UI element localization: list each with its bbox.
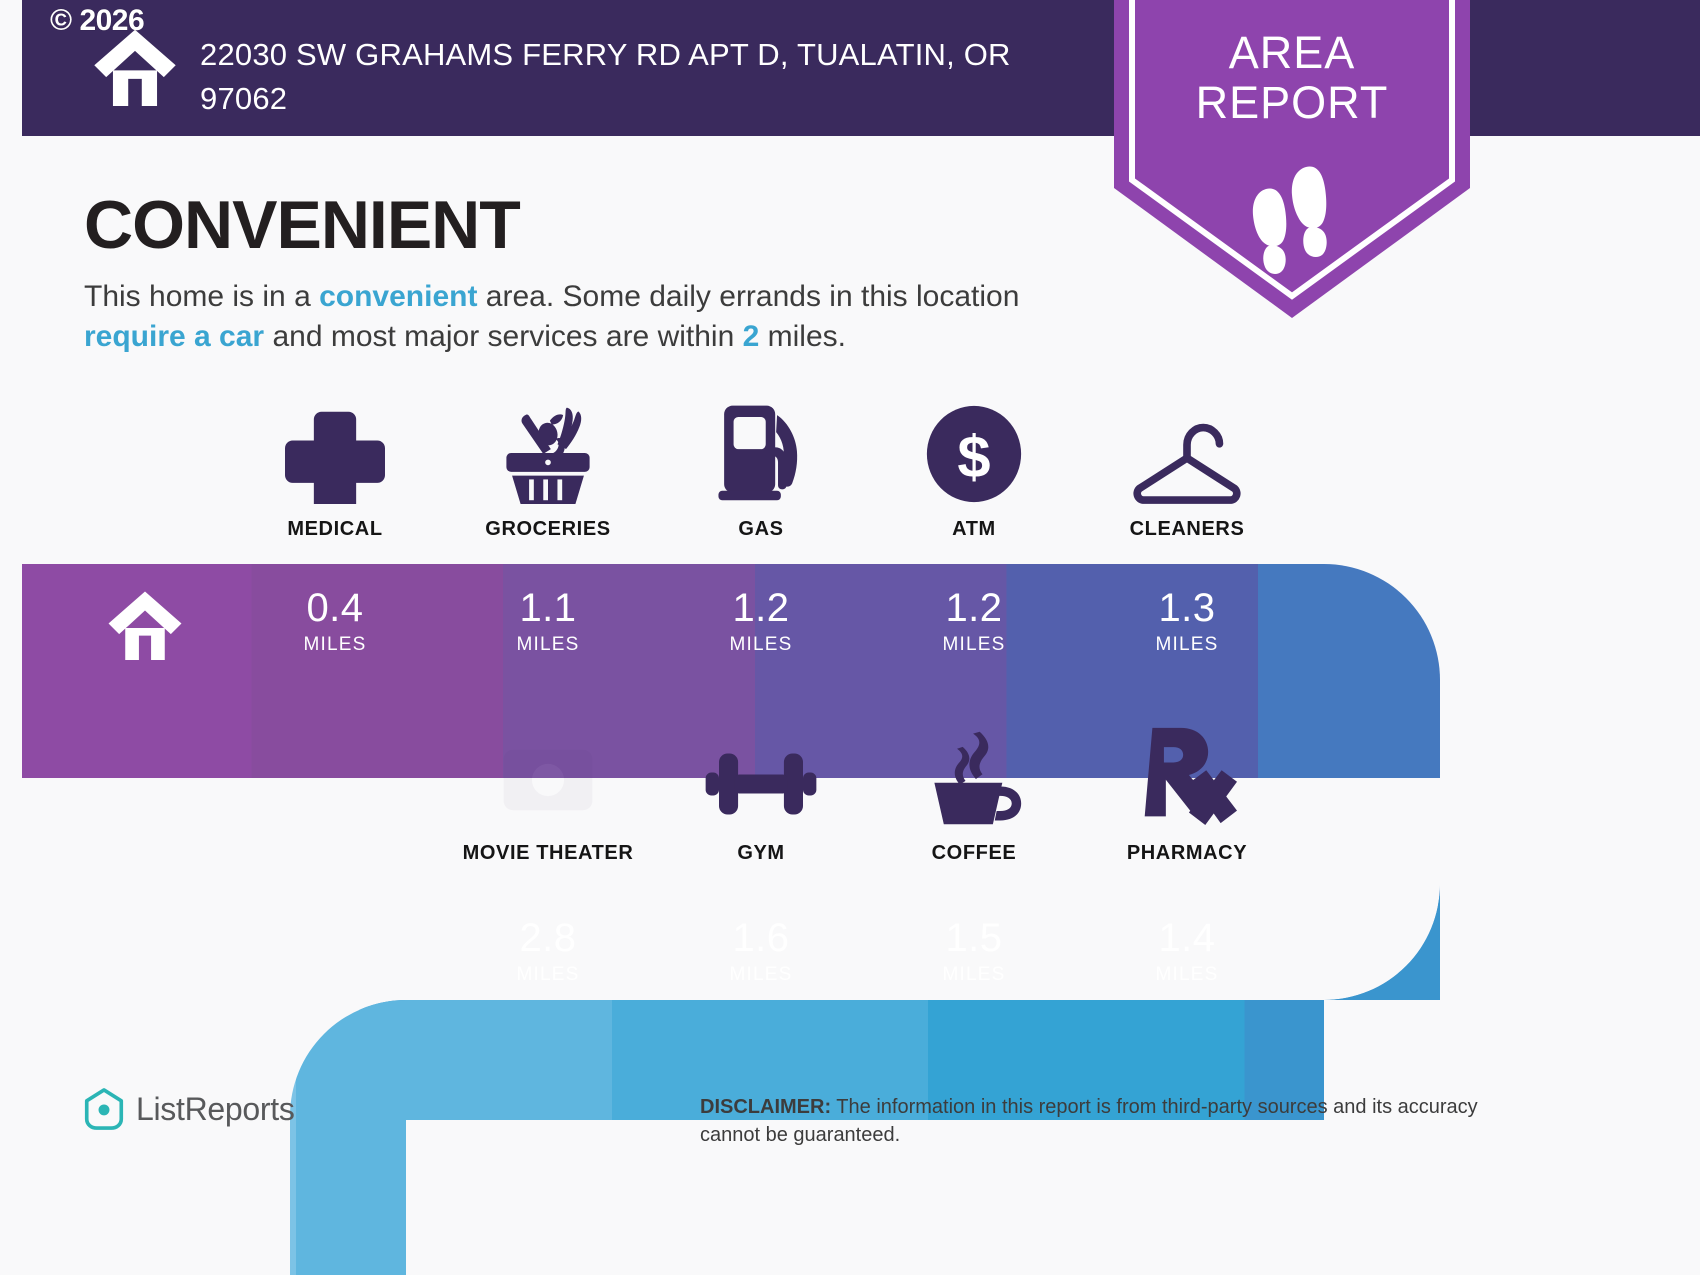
amenity-label: MOVIE THEATER bbox=[441, 842, 655, 865]
amenity-movie-theater: MOVIE THEATER bbox=[441, 732, 655, 865]
distance-value: 0.4 bbox=[228, 588, 442, 628]
amenity-label: CLEANERS bbox=[1080, 518, 1294, 541]
amenity-label: PHARMACY bbox=[1080, 842, 1294, 865]
dollar-circle-icon: $ bbox=[867, 408, 1081, 504]
distance-value: 1.2 bbox=[867, 588, 1081, 628]
copyright-text: © 2026 bbox=[50, 4, 144, 38]
amenity-label: MEDICAL bbox=[228, 518, 442, 541]
brand-name: ListReports bbox=[136, 1091, 295, 1128]
svg-text:$: $ bbox=[957, 423, 990, 490]
home-marker bbox=[70, 590, 220, 665]
area-report-page: © 2026 22030 SW GRAHAMS FERRY RD APT D, … bbox=[0, 0, 1700, 1275]
subtitle-part-4: miles. bbox=[759, 320, 846, 353]
distance-units: MILES bbox=[1080, 964, 1294, 986]
medical-cross-icon bbox=[228, 408, 442, 504]
badge-line-1: AREA bbox=[1229, 27, 1356, 78]
hanger-icon bbox=[1080, 408, 1294, 504]
distance-units: MILES bbox=[441, 964, 655, 986]
badge-line-2: REPORT bbox=[1196, 77, 1389, 128]
badge-title: AREA REPORT bbox=[1108, 28, 1476, 129]
distance-units: MILES bbox=[441, 634, 655, 656]
amenity-gas: GAS bbox=[654, 408, 868, 541]
distance-cell-gas: 1.2 MILES bbox=[654, 588, 868, 656]
distance-value: 1.1 bbox=[441, 588, 655, 628]
subtitle-highlight-1: convenient bbox=[319, 280, 477, 313]
subtitle-part-2: area. Some daily errands in this locatio… bbox=[477, 280, 1019, 313]
distance-cell-atm: 1.2 MILES bbox=[867, 588, 1081, 656]
distance-cell-coffee: 1.5 MILES bbox=[867, 918, 1081, 986]
amenity-medical: MEDICAL bbox=[228, 408, 442, 541]
distance-value: 2.8 bbox=[441, 918, 655, 958]
amenity-label: GAS bbox=[654, 518, 868, 541]
distance-units: MILES bbox=[654, 634, 868, 656]
subtitle-part-3: and most major services are within bbox=[264, 320, 743, 353]
amenity-atm: $ ATM bbox=[867, 408, 1081, 541]
amenity-label: COFFEE bbox=[867, 842, 1081, 865]
distance-cell-groceries: 1.1 MILES bbox=[441, 588, 655, 656]
distance-value: 1.4 bbox=[1080, 918, 1294, 958]
page-title: CONVENIENT bbox=[84, 186, 520, 264]
distance-cell-cleaners: 1.3 MILES bbox=[1080, 588, 1294, 656]
distance-value: 1.5 bbox=[867, 918, 1081, 958]
distance-units: MILES bbox=[867, 634, 1081, 656]
amenity-label: GROCERIES bbox=[441, 518, 655, 541]
amenity-label: ATM bbox=[867, 518, 1081, 541]
rx-icon bbox=[1080, 732, 1294, 828]
coffee-cup-icon bbox=[867, 732, 1081, 828]
amenity-label: GYM bbox=[654, 842, 868, 865]
amenity-pharmacy: PHARMACY bbox=[1080, 732, 1294, 865]
distance-units: MILES bbox=[867, 964, 1081, 986]
home-icon bbox=[107, 590, 183, 660]
property-address: 22030 SW GRAHAMS FERRY RD APT D, TUALATI… bbox=[200, 33, 1060, 121]
gas-pump-icon bbox=[654, 408, 868, 504]
listreports-logo[interactable]: ListReports bbox=[84, 1088, 295, 1130]
amenity-cleaners: CLEANERS bbox=[1080, 408, 1294, 541]
subtitle-highlight-3: 2 bbox=[743, 320, 760, 353]
distance-cell-movie-theater: 2.8 MILES bbox=[441, 918, 655, 986]
distance-cell-gym: 1.6 MILES bbox=[654, 918, 868, 986]
amenity-gym: GYM bbox=[654, 732, 868, 865]
disclaimer-label: DISCLAIMER: bbox=[700, 1096, 831, 1118]
listreports-logo-icon bbox=[84, 1088, 124, 1130]
distance-units: MILES bbox=[1080, 634, 1294, 656]
home-icon bbox=[92, 28, 178, 106]
area-report-badge: AREA REPORT bbox=[1108, 0, 1476, 322]
distance-units: MILES bbox=[654, 964, 868, 986]
distance-value: 1.2 bbox=[654, 588, 868, 628]
dumbbell-icon bbox=[654, 732, 868, 828]
grocery-basket-icon bbox=[441, 408, 655, 504]
disclaimer: DISCLAIMER: The information in this repo… bbox=[700, 1093, 1500, 1150]
distance-cell-medical: 0.4 MILES bbox=[228, 588, 442, 656]
distance-value: 1.6 bbox=[654, 918, 868, 958]
amenity-coffee: COFFEE bbox=[867, 732, 1081, 865]
distance-value: 1.3 bbox=[1080, 588, 1294, 628]
amenity-groceries: GROCERIES bbox=[441, 408, 655, 541]
distance-cell-pharmacy: 1.4 MILES bbox=[1080, 918, 1294, 986]
distance-units: MILES bbox=[228, 634, 442, 656]
subtitle-part-1: This home is in a bbox=[84, 280, 319, 313]
movie-ticket-icon bbox=[441, 732, 655, 828]
page-subtitle: This home is in a convenient area. Some … bbox=[84, 277, 1084, 357]
subtitle-highlight-2: require a car bbox=[84, 320, 264, 353]
